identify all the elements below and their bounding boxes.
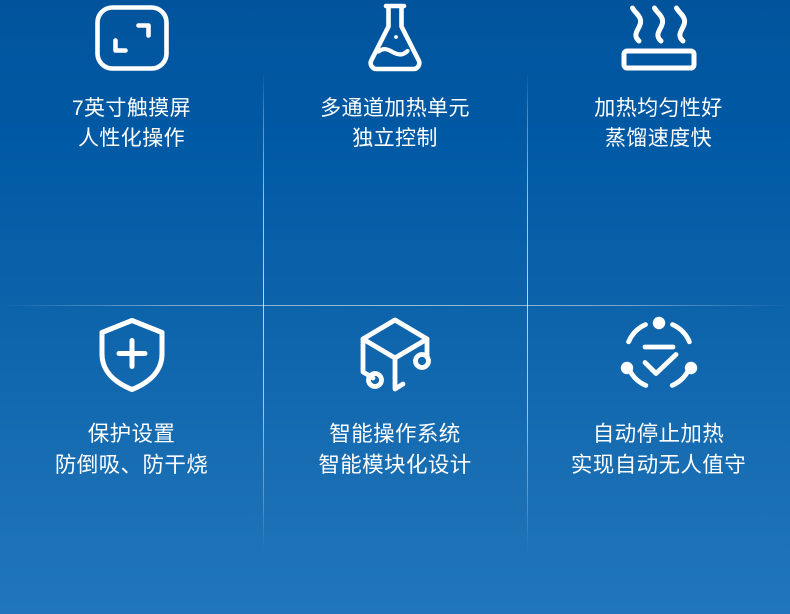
feature-cell-touchscreen: 7英寸触摸屏 人性化操作 [0,0,263,307]
feature-caption-line1: 自动停止加热 [571,419,746,450]
touchscreen-icon [94,0,170,76]
auto-check-icon [620,307,698,403]
feature-caption-line1: 智能操作系统 [318,419,471,450]
feature-caption-line2: 智能模块化设计 [318,450,471,481]
feature-caption-line2: 蒸馏速度快 [594,124,722,154]
feature-caption-line1: 加热均匀性好 [594,94,722,124]
heating-plate-icon [617,0,701,76]
flask-icon [365,0,425,76]
features-grid: 7英寸触摸屏 人性化操作 多通道加热单元 独立控制 [0,0,790,614]
feature-cell-auto-stop: 自动停止加热 实现自动无人值守 [527,307,790,614]
shield-plus-icon [97,307,167,403]
feature-caption: 加热均匀性好 蒸馏速度快 [594,94,722,154]
feature-caption-line2: 实现自动无人值守 [571,450,746,481]
feature-cell-multichannel-heating: 多通道加热单元 独立控制 [263,0,527,307]
feature-caption: 保护设置 防倒吸、防干烧 [55,419,208,480]
feature-cell-protection: 保护设置 防倒吸、防干烧 [0,307,263,614]
feature-cell-smart-system: 智能操作系统 智能模块化设计 [263,307,527,614]
feature-grid-panel: 7英寸触摸屏 人性化操作 多通道加热单元 独立控制 [0,0,790,614]
feature-caption-line2: 人性化操作 [72,124,191,154]
feature-caption-line2: 独立控制 [320,124,470,154]
feature-caption-line1: 保护设置 [55,419,208,450]
cube-module-icon [355,307,435,403]
feature-caption: 7英寸触摸屏 人性化操作 [72,94,191,154]
feature-caption: 多通道加热单元 独立控制 [320,94,470,154]
feature-caption: 智能操作系统 智能模块化设计 [318,419,471,480]
feature-caption-line1: 多通道加热单元 [320,94,470,124]
feature-caption: 自动停止加热 实现自动无人值守 [571,419,746,480]
feature-caption-line2: 防倒吸、防干烧 [55,450,208,481]
feature-cell-even-heating: 加热均匀性好 蒸馏速度快 [527,0,790,307]
feature-caption-line1: 7英寸触摸屏 [72,94,191,124]
